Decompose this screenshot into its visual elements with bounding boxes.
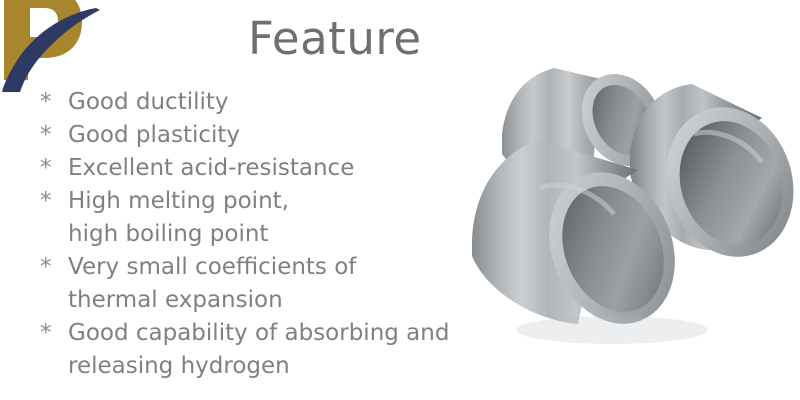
bullet-glyph: * xyxy=(40,152,64,185)
list-item: * Good capability of absorbing and xyxy=(40,317,490,350)
list-item: * Excellent acid-resistance xyxy=(40,152,490,185)
list-item-label: Good ductility xyxy=(64,86,490,119)
list-item-label: thermal expansion xyxy=(64,284,490,317)
company-logo xyxy=(0,0,110,100)
bullet-glyph: * xyxy=(40,86,64,119)
list-item: * Good ductility xyxy=(40,86,490,119)
product-image xyxy=(462,42,800,362)
list-item-label: Very small coefficients of xyxy=(64,251,490,284)
bullet-glyph: * xyxy=(40,185,64,218)
contact-shadow xyxy=(516,316,708,344)
feature-slide: Feature * Good ductility * Good plastici… xyxy=(0,0,800,400)
list-item-label: Good plasticity xyxy=(64,119,490,152)
list-item-label: Excellent acid-resistance xyxy=(64,152,490,185)
list-item: * High melting point, xyxy=(40,185,490,218)
list-item-continuation: high boiling point xyxy=(40,218,490,251)
list-item-label: Good capability of absorbing and xyxy=(64,317,490,350)
page-title: Feature xyxy=(248,14,422,64)
list-item: * Very small coefficients of xyxy=(40,251,490,284)
logo-artwork xyxy=(0,0,110,100)
metal-rings-illustration xyxy=(462,42,800,362)
list-item: * Good plasticity xyxy=(40,119,490,152)
bullet-glyph: * xyxy=(40,317,64,350)
bullet-glyph: * xyxy=(40,251,64,284)
bullet-glyph: * xyxy=(40,119,64,152)
list-item-label: high boiling point xyxy=(64,218,490,251)
list-item-label: High melting point, xyxy=(64,185,490,218)
list-item-label: releasing hydrogen xyxy=(64,350,490,383)
feature-list: * Good ductility * Good plasticity * Exc… xyxy=(40,86,490,383)
list-item-continuation: thermal expansion xyxy=(40,284,490,317)
list-item-continuation: releasing hydrogen xyxy=(40,350,490,383)
